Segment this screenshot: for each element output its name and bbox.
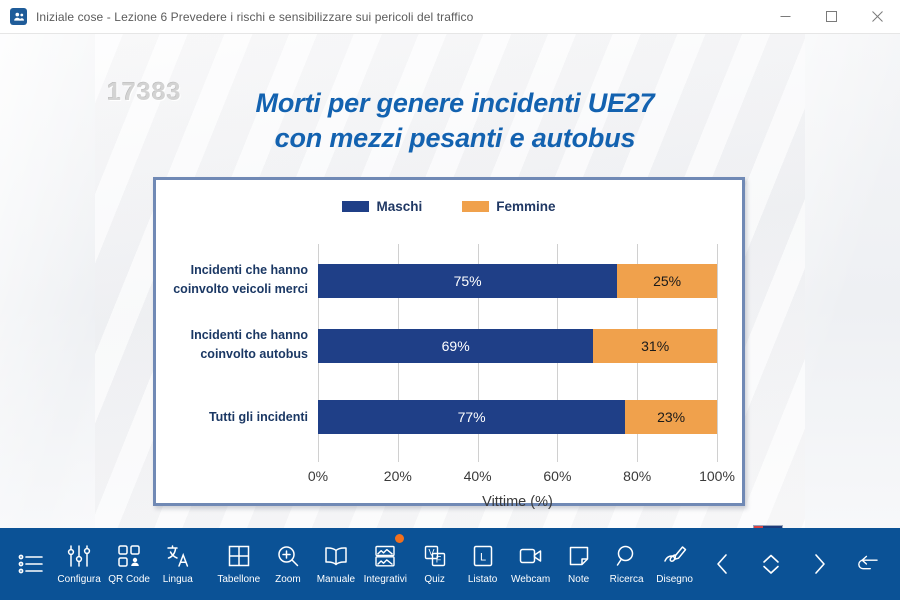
toolbar-item-qr-code[interactable]: QR Code <box>104 528 153 600</box>
x-axis-tick: 0% <box>308 468 328 484</box>
note-icon <box>567 542 591 570</box>
bar-segment-femmine[interactable]: 23% <box>625 400 717 434</box>
people-icon <box>10 8 27 25</box>
search-icon <box>615 542 639 570</box>
x-axis-tick: 80% <box>623 468 651 484</box>
previous-slide-button[interactable] <box>699 528 747 600</box>
bar-category-label: Incidenti che hanno coinvolto autobus <box>191 326 308 364</box>
close-button[interactable] <box>854 0 900 34</box>
legend-swatch-femmine <box>462 201 489 212</box>
bar-category-label-line: Incidenti che hanno <box>173 261 308 280</box>
toolbar-item-integrativi[interactable]: Integrativi <box>360 528 411 600</box>
toolbar-label-tabellone: Tabellone <box>217 574 260 585</box>
toolbar-label-ricerca: Ricerca <box>610 574 644 585</box>
toolbar-item-disegno[interactable]: Disegno <box>651 528 699 600</box>
page-title-line-2: con mezzi pesanti e autobus <box>165 121 745 156</box>
toolbar-item-lingua[interactable]: Lingua <box>154 528 202 600</box>
toolbar-item-tabellone[interactable]: Tabellone <box>214 528 264 600</box>
bar-category-label: Incidenti che hanno coinvolto veicoli me… <box>173 261 308 299</box>
title-bar: Iniziale cose - Lezione 6 Prevedere i ri… <box>0 0 900 34</box>
bar-category-label: Tutti gli incidenti <box>209 408 308 427</box>
svg-text:F: F <box>435 554 441 564</box>
table-row: Tutti gli incidenti 77% 23% <box>318 400 717 434</box>
grid-board-icon <box>227 542 251 570</box>
toolbar-item-manuale[interactable]: Manuale <box>312 528 360 600</box>
chart-card: Maschi Femmine <box>153 177 745 506</box>
x-axis: 0% 20% 40% 60% 80% 100% <box>318 468 717 490</box>
table-row: Incidenti che hanno coinvolto veicoli me… <box>318 264 717 298</box>
minimize-button[interactable] <box>762 0 808 34</box>
toolbar-label-configura: Configura <box>57 574 100 585</box>
toolbar-label-lingua: Lingua <box>163 574 193 585</box>
bar-category-label-line: coinvolto veicoli merci <box>173 280 308 299</box>
bar-segment-maschi[interactable]: 75% <box>318 264 617 298</box>
vf-quiz-icon: V F <box>423 542 447 570</box>
pen-icon <box>662 542 688 570</box>
webcam-icon <box>518 542 544 570</box>
toolbar-label-webcam: Webcam <box>511 574 550 585</box>
legend-label-femmine: Femmine <box>496 199 555 214</box>
legend-label-maschi: Maschi <box>376 199 422 214</box>
toolbar-item-note[interactable]: Note <box>555 528 603 600</box>
app-window: Iniziale cose - Lezione 6 Prevedere i ri… <box>0 0 900 600</box>
notification-badge <box>395 534 404 543</box>
toolbar-label-integrativi: Integrativi <box>364 574 407 585</box>
x-axis-tick: 60% <box>543 468 571 484</box>
bar-category-label-line: coinvolto autobus <box>191 345 308 364</box>
listing-icon: L <box>471 542 495 570</box>
toolbar-item-listato[interactable]: L Listato <box>459 528 507 600</box>
x-axis-tick: 100% <box>699 468 735 484</box>
toolbar-label-quiz: Quiz <box>424 574 445 585</box>
toolbar-gap <box>202 528 214 600</box>
svg-text:L: L <box>480 551 486 563</box>
bar-category-label-line: Tutti gli incidenti <box>209 408 308 427</box>
toolbar-item-ricerca[interactable]: Ricerca <box>603 528 651 600</box>
toolbar-item-zoom[interactable]: Zoom <box>264 528 312 600</box>
chart-plot: Incidenti che hanno coinvolto veicoli me… <box>156 236 742 503</box>
bar-category-label-line: Incidenti che hanno <box>191 326 308 345</box>
next-slide-button[interactable] <box>795 528 843 600</box>
x-axis-tick: 40% <box>464 468 492 484</box>
table-row: Incidenti che hanno coinvolto autobus 69… <box>318 329 717 363</box>
book-icon <box>323 542 349 570</box>
images-icon <box>373 542 397 570</box>
list-menu-icon[interactable] <box>8 528 54 600</box>
return-button[interactable] <box>843 528 892 600</box>
window-controls <box>762 0 900 34</box>
toolbar-label-listato: Listato <box>468 574 497 585</box>
toolbar-label-qr-code: QR Code <box>108 574 150 585</box>
bar-segment-maschi[interactable]: 69% <box>318 329 593 363</box>
bar-value-label: 69% <box>442 338 470 354</box>
title-bar-left: Iniziale cose - Lezione 6 Prevedere i ri… <box>0 8 473 25</box>
page-title: Morti per genere incidenti UE27 con mezz… <box>165 86 745 155</box>
sliders-icon <box>67 542 91 570</box>
legend-item-maschi: Maschi <box>342 199 422 214</box>
page-title-line-1: Morti per genere incidenti UE27 <box>165 86 745 121</box>
bar-value-label: 77% <box>458 409 486 425</box>
svg-text:V: V <box>428 547 434 557</box>
bar-segment-femmine[interactable]: 31% <box>593 329 717 363</box>
slide: 17383 Morti per genere incidenti UE27 co… <box>95 34 805 528</box>
x-axis-title: Vittime (%) <box>318 494 717 510</box>
bar-segment-femmine[interactable]: 25% <box>617 264 717 298</box>
bar-value-label: 31% <box>641 338 669 354</box>
bar-value-label: 75% <box>454 273 482 289</box>
toolbar-item-webcam[interactable]: Webcam <box>507 528 555 600</box>
toolbar-item-quiz[interactable]: V F Quiz <box>411 528 459 600</box>
chart-legend: Maschi Femmine <box>156 180 742 214</box>
maximize-button[interactable] <box>808 0 854 34</box>
toolbar-label-zoom: Zoom <box>275 574 301 585</box>
slide-stage: 17383 Morti per genere incidenti UE27 co… <box>0 34 900 528</box>
bar-value-label: 25% <box>653 273 681 289</box>
qr-code-icon <box>117 542 141 570</box>
gridline <box>717 244 718 462</box>
bottom-toolbar: Configura QR Code Lingua <box>0 528 900 600</box>
plot-area: Incidenti che hanno coinvolto veicoli me… <box>318 244 717 462</box>
slide-updown-button[interactable] <box>747 528 795 600</box>
translate-icon <box>166 542 190 570</box>
zoom-in-icon <box>276 542 300 570</box>
toolbar-item-configura[interactable]: Configura <box>54 528 105 600</box>
toolbar-label-note: Note <box>568 574 589 585</box>
bar-segment-maschi[interactable]: 77% <box>318 400 625 434</box>
legend-item-femmine: Femmine <box>462 199 555 214</box>
window-title: Iniziale cose - Lezione 6 Prevedere i ri… <box>36 10 473 24</box>
bar-value-label: 23% <box>657 409 685 425</box>
x-axis-tick: 20% <box>384 468 412 484</box>
toolbar-label-disegno: Disegno <box>656 574 693 585</box>
bar-rows: Incidenti che hanno coinvolto veicoli me… <box>318 244 717 462</box>
legend-swatch-maschi <box>342 201 369 212</box>
toolbar-label-manuale: Manuale <box>317 574 355 585</box>
